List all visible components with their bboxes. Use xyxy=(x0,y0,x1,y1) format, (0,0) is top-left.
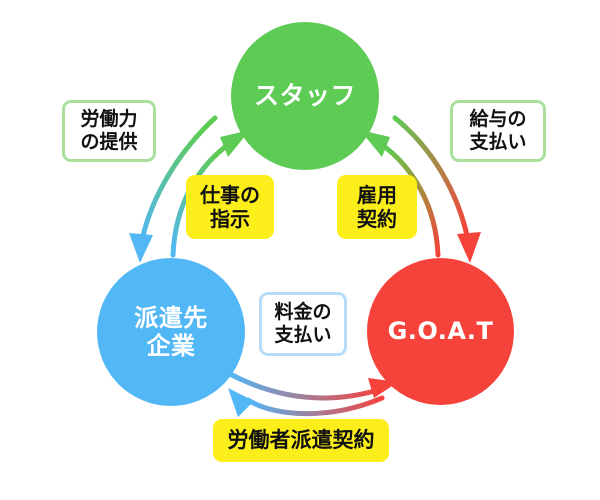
arrow-client-to-agency xyxy=(230,374,398,398)
label-salary-payment-text: 給与の 支払い xyxy=(469,108,526,154)
label-employment-contract-text: 雇用 契約 xyxy=(357,183,397,232)
label-salary-payment: 給与の 支払い xyxy=(450,100,546,162)
label-dispatch-contract-line1: 労働者派遣契約 xyxy=(228,428,375,454)
dispatch-relationship-diagram: スタッフ 派遣先 企業 G.O.A.T 労働力 の提供 給与の 支払い 仕事の … xyxy=(0,0,600,500)
label-fee-payment: 料金の 支払い xyxy=(259,292,347,356)
label-work-instruction-line2: 指示 xyxy=(210,207,250,231)
label-labor-supply-line1: 労働力 xyxy=(80,108,137,130)
label-labor-supply-text: 労働力 の提供 xyxy=(80,108,137,154)
label-employment-contract-line1: 雇用 xyxy=(357,183,397,207)
label-employment-contract: 雇用 契約 xyxy=(337,175,417,239)
label-fee-payment-line2: 支払い xyxy=(274,324,331,346)
label-fee-payment-line1: 料金の xyxy=(274,301,331,323)
node-client-company-label-line2: 企業 xyxy=(147,332,196,360)
label-salary-payment-line1: 給与の xyxy=(469,108,526,130)
node-agency-goat-label: G.O.A.T xyxy=(388,317,494,345)
label-dispatch-contract: 労働者派遣契約 xyxy=(213,419,389,462)
label-work-instruction-text: 仕事の 指示 xyxy=(200,183,260,232)
node-client-company-label: 派遣先 企業 xyxy=(134,304,208,361)
label-work-instruction-line1: 仕事の xyxy=(200,183,260,207)
label-salary-payment-line2: 支払い xyxy=(469,131,526,153)
node-staff-label: スタッフ xyxy=(254,81,356,111)
label-labor-supply-line2: の提供 xyxy=(80,131,137,153)
node-client-company-label-line1: 派遣先 xyxy=(134,304,208,332)
node-client-company[interactable]: 派遣先 企業 xyxy=(97,258,245,406)
label-labor-supply: 労働力 の提供 xyxy=(62,100,156,162)
node-staff[interactable]: スタッフ xyxy=(231,22,379,170)
label-work-instruction: 仕事の 指示 xyxy=(186,175,274,239)
label-employment-contract-line2: 契約 xyxy=(357,207,397,231)
label-fee-payment-text: 料金の 支払い xyxy=(274,301,331,347)
node-agency-goat[interactable]: G.O.A.T xyxy=(367,258,514,405)
